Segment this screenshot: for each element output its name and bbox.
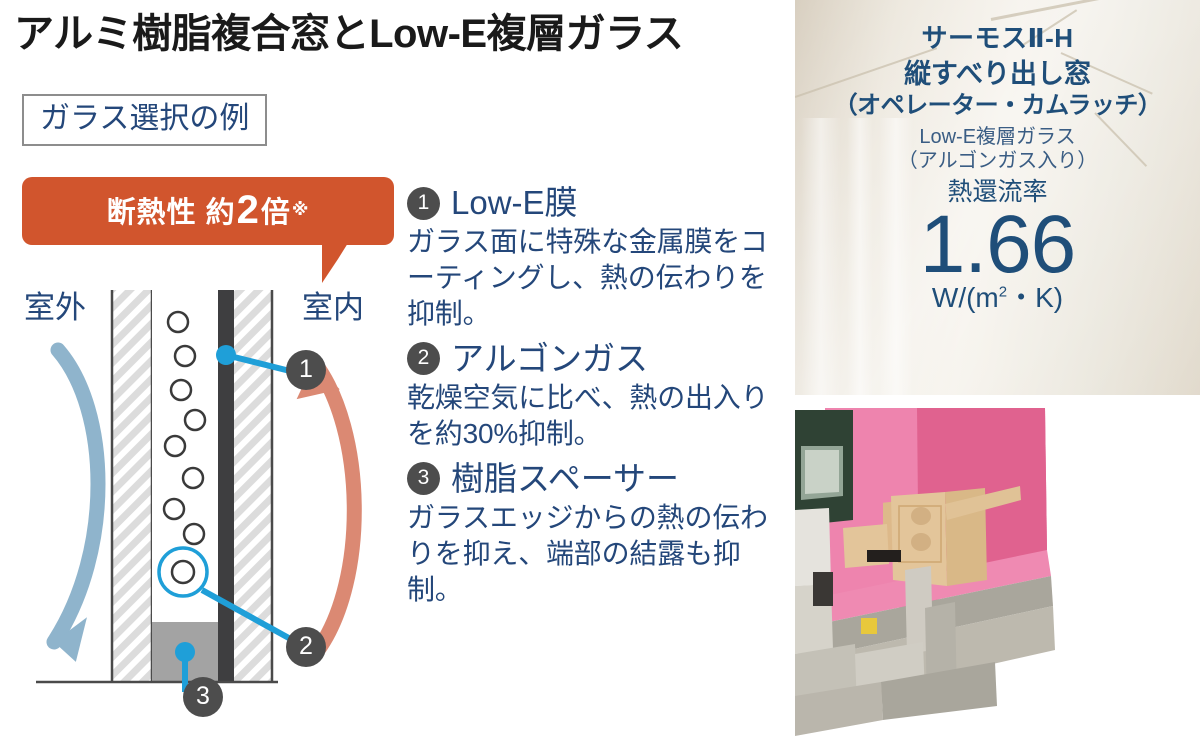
unit-prefix: W/(m: [932, 282, 999, 313]
product-spec-panel: サーモスⅡ-H 縦すべり出し窓 （オペレーター・カムラッチ） Low-E複層ガラ…: [795, 0, 1200, 395]
heat-arrow: [287, 357, 354, 650]
unit-superscript: 2: [999, 284, 1007, 301]
left-content-panel: アルミ樹脂複合窓とLow‐E複層ガラス ガラス選択の例 断熱性 約2倍※ 室外 …: [0, 0, 795, 750]
unit-suffix: ・K): [1007, 282, 1063, 313]
callout-suffix: 倍: [261, 189, 291, 231]
feature-3-title: 樹脂スペーサー: [451, 461, 679, 497]
window-frame-photo: [795, 400, 1125, 750]
diagram-marker-1: 1: [286, 350, 326, 390]
feature-list: 1 Low-E膜 ガラス面に特殊な金属膜をコーティングし、熱の伝わりを抑制。 2…: [407, 185, 787, 617]
feature-2-number: 2: [407, 342, 440, 375]
callout-prefix: 断熱性 約: [107, 189, 236, 231]
insulation-callout-text: 断熱性 約2倍※: [22, 177, 394, 245]
window-type: 縦すべり出し窓: [795, 58, 1200, 90]
feature-1-title: Low-E膜: [451, 185, 578, 221]
feature-2-body: 乾燥空気に比べ、熱の出入りを約30%抑制。: [407, 380, 787, 452]
infographic-page: アルミ樹脂複合窓とLow‐E複層ガラス ガラス選択の例 断熱性 約2倍※ 室外 …: [0, 0, 1200, 750]
outer-glass-pane: [112, 290, 152, 682]
u-value-number: 1.66: [795, 206, 1200, 285]
cold-arrow: [51, 350, 98, 662]
feature-3-head: 3 樹脂スペーサー: [407, 461, 787, 497]
feature-2-title: アルゴンガス: [451, 341, 648, 377]
feature-item-3: 3 樹脂スペーサー ガラスエッジからの熱の伝わりを抑え、端部の結露も抑制。: [407, 461, 787, 608]
feature-3-body: ガラスエッジからの熱の伝わりを抑え、端部の結露も抑制。: [407, 500, 787, 607]
glass-cross-section-diagram: [18, 250, 398, 720]
right-column: サーモスⅡ-H 縦すべり出し窓 （オペレーター・カムラッチ） Low-E複層ガラ…: [795, 0, 1200, 750]
glass-spec-line1: Low-E複層ガラス: [795, 125, 1200, 149]
leader-dot-3: [175, 642, 195, 662]
diagram-marker-2: 2: [286, 627, 326, 667]
callout-note-mark: ※: [292, 200, 310, 220]
feature-2-head: 2 アルゴンガス: [407, 341, 787, 377]
window-subtype: （オペレーター・カムラッチ）: [795, 92, 1200, 120]
product-spec-text: サーモスⅡ-H 縦すべり出し窓 （オペレーター・カムラッチ） Low-E複層ガラ…: [795, 0, 1200, 312]
callout-number: 2: [236, 190, 261, 230]
glass-selection-example-badge: ガラス選択の例: [22, 94, 267, 146]
product-name: サーモスⅡ-H: [795, 24, 1200, 54]
frame-cross-section-panel: 樹脂形材 アルミ形材: [795, 400, 1200, 750]
feature-1-number: 1: [407, 187, 440, 220]
insulation-callout: 断熱性 約2倍※: [22, 177, 394, 245]
feature-1-head: 1 Low-E膜: [407, 185, 787, 221]
feature-3-number: 3: [407, 462, 440, 495]
feature-1-body: ガラス面に特殊な金属膜をコーティングし、熱の伝わりを抑制。: [407, 224, 787, 331]
feature-item-1: 1 Low-E膜 ガラス面に特殊な金属膜をコーティングし、熱の伝わりを抑制。: [407, 185, 787, 332]
page-title: アルミ樹脂複合窓とLow‐E複層ガラス: [14, 12, 794, 56]
glass-spec-line2: （アルゴンガス入り）: [795, 149, 1200, 173]
diagram-marker-3: 3: [183, 677, 223, 717]
leader-dot-1: [216, 345, 236, 365]
feature-item-2: 2 アルゴンガス 乾燥空気に比べ、熱の出入りを約30%抑制。: [407, 341, 787, 452]
u-value-unit: W/(m2・K): [795, 283, 1200, 312]
